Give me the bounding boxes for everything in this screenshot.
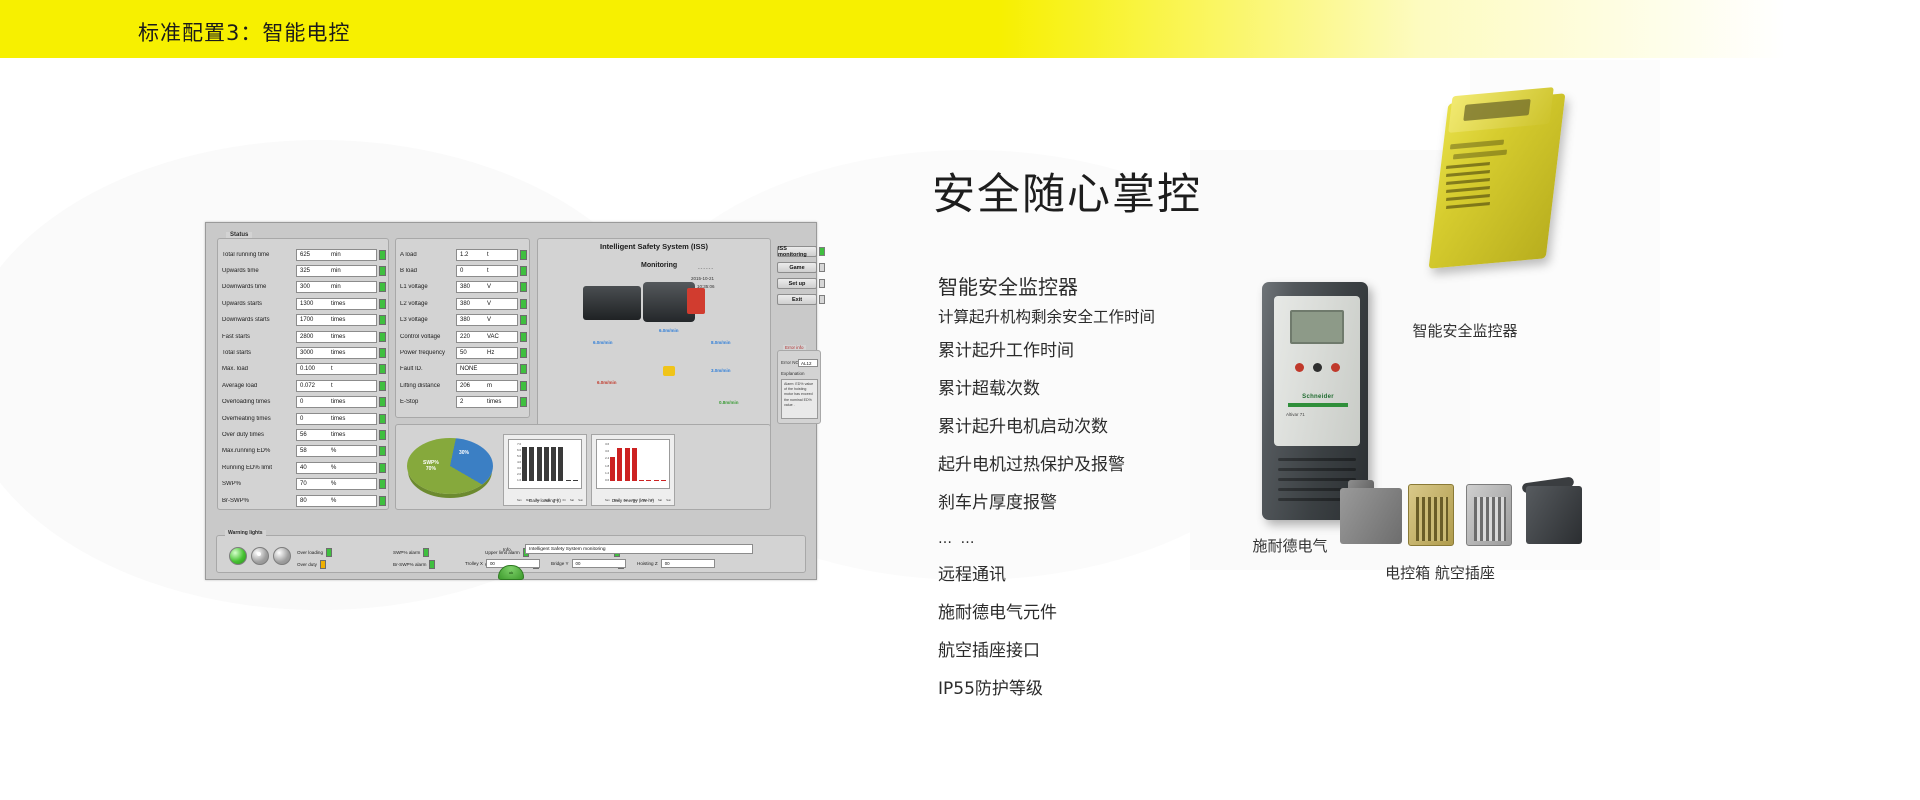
connectors-image [1340, 480, 1600, 560]
status-unit: t [331, 366, 333, 372]
electrical-led [520, 397, 527, 407]
electrical-value: 50 [460, 350, 467, 356]
chart-ytick: 7.0 [511, 442, 521, 446]
speed-label-3: 8.0m/min [711, 340, 731, 345]
status-led [379, 315, 386, 325]
electrical-field[interactable]: 2times [456, 396, 518, 408]
status-value: 0.072 [300, 383, 315, 389]
status-field[interactable]: 0.072t [296, 380, 377, 392]
status-field[interactable]: 70% [296, 478, 377, 490]
status-led [379, 496, 386, 506]
chart-bar [625, 448, 630, 481]
info-field[interactable]: Intelligent Safety System monitoring [525, 544, 753, 554]
electrical-group: A load1.2tB load0tL1 voltage380VL2 volta… [395, 238, 530, 418]
status-led [379, 250, 386, 260]
status-label: Fast starts [222, 334, 296, 340]
status-led [379, 463, 386, 473]
electrical-unit: V [487, 284, 491, 290]
daily-loading-yaxis: 7.06.05.04.03.02.01.0 [511, 442, 521, 482]
warning-item-label: Over duty [297, 562, 317, 567]
electrical-value: 220 [460, 334, 470, 340]
warning-item: SWP% alarm [393, 548, 429, 557]
chart-bar [551, 447, 556, 481]
chart-bar [529, 447, 534, 481]
daily-loading-chart: 7.06.05.04.03.02.01.0 SunMonTueWedThuFri… [503, 434, 587, 506]
status-label: Over duty times [222, 432, 296, 438]
status-row: Max.running ED%58% [222, 444, 386, 459]
electrical-label: Lifting distance [400, 383, 456, 389]
warning-lamp-3 [273, 547, 291, 565]
vfd-vent-1 [1278, 458, 1356, 461]
status-field[interactable]: 58% [296, 445, 377, 457]
electrical-field[interactable]: 0t [456, 265, 518, 277]
status-led [379, 348, 386, 358]
daily-loading-plot: 7.06.05.04.03.02.01.0 [508, 439, 582, 489]
status-led [379, 364, 386, 374]
hoist-hook-graphic [663, 366, 675, 376]
electrical-label: L2 voltage [400, 301, 456, 307]
status-row: Running ED% limit40% [222, 460, 386, 475]
status-field[interactable]: 56times [296, 429, 377, 441]
electrical-field[interactable]: 206m [456, 380, 518, 392]
pie-disk [407, 438, 493, 494]
electrical-led [520, 250, 527, 260]
chart-bar [632, 448, 637, 481]
chart-ytick: 1.0 [511, 478, 521, 482]
electrical-led [520, 348, 527, 358]
electrical-field[interactable]: 380V [456, 298, 518, 310]
banner-title: 标准配置3：智能电控 [138, 17, 350, 47]
electrical-value: 1.2 [460, 252, 468, 258]
electrical-label: Control voltage [400, 334, 456, 340]
electrical-led [520, 266, 527, 276]
electrical-unit: t [487, 268, 489, 274]
electrical-row: E-Stop2times [400, 395, 527, 410]
speed-label-6: 0.8m/min [719, 400, 739, 405]
monitoring-label: Monitoring [641, 262, 677, 269]
hmi-button-column: ISS monitoringGameSet upExit [777, 246, 821, 310]
swp-pie-chart: 30% SWP% 70% [407, 434, 493, 496]
status-row: Max. load0.100t [222, 362, 386, 377]
status-unit: min [331, 268, 341, 274]
status-field[interactable]: 0times [296, 413, 377, 425]
status-label: Max.running ED% [222, 448, 296, 454]
status-field[interactable]: 0.100t [296, 363, 377, 375]
electrical-led [520, 299, 527, 309]
status-label: Overheating times [222, 416, 296, 422]
status-value: 1700 [300, 317, 313, 323]
electrical-value: 2 [460, 399, 463, 405]
status-row: Upwards starts1300times [222, 296, 386, 311]
error-explanation-label: Explanation [781, 371, 805, 376]
electrical-value: 380 [460, 317, 470, 323]
status-unit: times [331, 416, 345, 422]
connector-4-hood [1526, 486, 1582, 544]
hmi-button-label: Exit [792, 297, 802, 303]
hmi-button-indicator [819, 295, 825, 304]
status-row: Overloading times0times [222, 395, 386, 410]
connector-2-pins [1416, 497, 1448, 541]
status-field[interactable]: 0times [296, 396, 377, 408]
status-label: Downwards time [222, 284, 296, 290]
coord-trolley-x-label: Trolley X [465, 561, 483, 566]
daily-energy-yaxis: 3.63.02.41.81.20.6 [599, 442, 609, 482]
status-unit: % [331, 498, 336, 504]
status-unit: min [331, 252, 341, 258]
hmi-button-label: ISS monitoring [778, 246, 816, 258]
feature-item: 施耐德电气元件 [938, 594, 1358, 632]
vfd-brand-bar [1288, 403, 1348, 407]
chart-ytick: 6.0 [511, 448, 521, 452]
electrical-row: L3 voltage380V [400, 313, 527, 328]
status-unit: % [331, 448, 336, 454]
status-row: Total running time625min [222, 247, 386, 262]
status-led [379, 430, 386, 440]
connector-2-hood [1408, 484, 1454, 546]
vfd-model-text: Altivar 71 [1286, 412, 1352, 418]
warning-lamp-1 [229, 547, 247, 565]
feature-item: IP55防护等级 [938, 670, 1358, 708]
status-value: 2800 [300, 334, 313, 340]
status-value: 58 [300, 448, 307, 454]
status-led [379, 414, 386, 424]
electrical-label: E-Stop [400, 399, 456, 405]
hmi-button-indicator [819, 279, 825, 288]
status-field[interactable]: 625min [296, 249, 377, 261]
warning-lights-panel: Warning lights Over loadingOver dutySWP%… [216, 535, 806, 573]
chart-bar [573, 480, 578, 481]
coord-hoisting-z-field[interactable]: 00 [661, 559, 715, 568]
status-unit: times [331, 432, 345, 438]
status-value: 0 [300, 399, 303, 405]
warning-item: Br-SWP% alarm [393, 560, 435, 569]
speed-label-1: 6.0m/min [593, 340, 613, 345]
status-field[interactable]: 1700times [296, 314, 377, 326]
electrical-label: L1 voltage [400, 284, 456, 290]
feature-item: 航空插座接口 [938, 632, 1358, 670]
status-value: 80 [300, 498, 307, 504]
status-value: 1300 [300, 301, 313, 307]
chart-ytick: 1.8 [599, 464, 609, 468]
status-label: Average load [222, 383, 296, 389]
chart-ytick: 3.6 [599, 442, 609, 446]
vfd-brand-text: Schneider [1286, 394, 1350, 400]
hmi-button-indicator [819, 247, 825, 256]
status-row: Average load0.072t [222, 378, 386, 393]
electrical-label: A load [400, 252, 456, 258]
speed-label-2: 6.0m/min [659, 328, 679, 333]
warning-item-indicator [320, 560, 326, 569]
chart-bar [654, 480, 659, 481]
status-field[interactable]: 40% [296, 462, 377, 474]
coord-hoisting-z-label: Hoisting Z [637, 561, 658, 566]
status-led [379, 479, 386, 489]
electrical-unit: times [487, 399, 501, 405]
product-caption-box: 电控箱 航空插座 [1290, 562, 1590, 583]
hoist-motor-graphic [583, 286, 641, 320]
daily-loading-caption: Daily loading (t) [504, 498, 586, 503]
error-info-legend: Error info [783, 345, 806, 350]
electrical-value: 206 [460, 383, 470, 389]
status-led [379, 299, 386, 309]
status-field[interactable]: 80% [296, 495, 377, 507]
electrical-led [520, 332, 527, 342]
error-info-box: Error info Error NO. AL12 Explanation Al… [777, 350, 821, 424]
ok-knob-button[interactable]: ok [498, 565, 524, 580]
page-root: 标准配置3：智能电控 Status Total running time625m… [0, 0, 1920, 800]
warning-item-label: Br-SWP% alarm [393, 562, 426, 567]
warning-item-label: SWP% alarm [393, 550, 420, 555]
chart-bar [544, 447, 549, 481]
status-label: Running ED% limit [222, 465, 296, 471]
warning-item: Over loading [297, 548, 332, 557]
electrical-row: A load1.2t [400, 247, 527, 262]
electrical-row: B load0t [400, 263, 527, 278]
electrical-label: Fault ID. [400, 366, 456, 372]
status-unit: times [331, 350, 345, 356]
status-label: Max. load [222, 366, 296, 372]
hmi-button-set-up[interactable]: Set up [777, 278, 817, 289]
electrical-field[interactable]: 380V [456, 314, 518, 326]
electrical-label: Power frequency [400, 350, 456, 356]
electrical-led [520, 381, 527, 391]
electrical-field[interactable]: 1.2t [456, 249, 518, 261]
coord-bridge-y-field[interactable]: 00 [572, 559, 626, 568]
electrical-value: 0 [460, 268, 463, 274]
electrical-unit: V [487, 301, 491, 307]
vfd-lcd-icon [1290, 310, 1344, 344]
status-group-legend: Status [226, 232, 252, 238]
status-field[interactable]: 300min [296, 281, 377, 293]
warning-item-indicator [326, 548, 332, 557]
chart-ytick: 2.4 [599, 456, 609, 460]
hmi-button-indicator [819, 263, 825, 272]
status-led [379, 397, 386, 407]
status-label: Br-SWP% [222, 498, 296, 504]
status-value: 625 [300, 252, 310, 258]
chart-bar [522, 447, 527, 481]
electrical-label: L3 voltage [400, 317, 456, 323]
electrical-row: L1 voltage380V [400, 280, 527, 295]
status-row: Overheating times0times [222, 411, 386, 426]
electrical-field[interactable]: 50Hz [456, 347, 518, 359]
pie-center-value: 70% [423, 466, 439, 472]
chart-ytick: 5.0 [511, 454, 521, 458]
chart-bar [558, 447, 563, 481]
electrical-field[interactable]: 220VAC [456, 331, 518, 343]
chart-bar [646, 480, 651, 481]
electrical-row: Power frequency50Hz [400, 345, 527, 360]
status-row: Br-SWP%80% [222, 493, 386, 508]
electrical-led [520, 364, 527, 374]
chart-ytick: 2.0 [511, 472, 521, 476]
status-row: Over duty times56times [222, 427, 386, 442]
status-value: 0 [300, 416, 303, 422]
chart-ytick: 3.0 [511, 466, 521, 470]
electrical-unit: VAC [487, 334, 499, 340]
electrical-led [520, 282, 527, 292]
status-field[interactable]: 2800times [296, 331, 377, 343]
electrical-led [520, 315, 527, 325]
status-label: Overloading times [222, 399, 296, 405]
speed-label-5: 6.0m/min [597, 380, 617, 385]
status-row: Total starts3000times [222, 345, 386, 360]
warning-item-label: Over loading [297, 550, 323, 555]
error-no-field[interactable]: AL12 [798, 359, 818, 367]
page-title: 安全随心掌控 [932, 160, 1202, 222]
warning-item: Over duty [297, 560, 326, 569]
status-label: Upwards starts [222, 301, 296, 307]
error-explanation-text: Alarm: ED% value of the hoisting motor h… [781, 379, 818, 419]
electrical-unit: Hz [487, 350, 494, 356]
warning-item-indicator [429, 560, 435, 569]
hmi-button-exit[interactable]: Exit [777, 294, 817, 305]
status-unit: times [331, 334, 345, 340]
chart-bar [617, 448, 622, 481]
status-label: SWP% [222, 481, 296, 487]
monitoring-dots: ------ [698, 266, 714, 272]
electrical-row: L2 voltage380V [400, 296, 527, 311]
status-unit: min [331, 284, 341, 290]
electrical-unit: V [487, 317, 491, 323]
status-unit: t [331, 383, 333, 389]
electrical-field[interactable]: 380V [456, 281, 518, 293]
info-label: Info. [503, 547, 512, 552]
status-value: 300 [300, 284, 310, 290]
chart-bar [537, 447, 542, 481]
hmi-panel: Status Total running time625minUpwards t… [205, 222, 817, 580]
electrical-row: Control voltage220VAC [400, 329, 527, 344]
status-field[interactable]: 325min [296, 265, 377, 277]
chart-bar [610, 457, 615, 481]
status-value: 70 [300, 481, 307, 487]
safety-relay-image [1420, 90, 1588, 280]
status-value: 325 [300, 268, 310, 274]
electrical-row: Fault ID.NONE [400, 362, 527, 377]
warning-lamp-2 [251, 547, 269, 565]
hmi-button-game[interactable]: Game [777, 262, 817, 273]
pie-slice-label-green: SWP% 70% [423, 460, 439, 473]
warning-item-indicator [423, 548, 429, 557]
status-unit: times [331, 317, 345, 323]
vfd-vent-2 [1278, 468, 1356, 471]
status-value: 40 [300, 465, 307, 471]
chart-bar [639, 480, 644, 481]
status-row: Downwards time300min [222, 280, 386, 295]
daily-energy-caption: Daily energy (kW-hr) [592, 498, 674, 503]
daily-energy-bars [610, 443, 666, 481]
chart-ytick: 0.6 [599, 478, 609, 482]
daily-energy-chart: 3.63.02.41.81.20.6 SunMonTueWedThuFriSat… [591, 434, 675, 506]
status-led [379, 332, 386, 342]
status-field[interactable]: 3000times [296, 347, 377, 359]
hmi-button-label: Game [789, 265, 804, 271]
coord-bridge-y: Bridge Y 00 [551, 559, 626, 568]
hoist-panel-graphic [687, 288, 705, 314]
status-unit: % [331, 465, 336, 471]
status-row: Downwards starts1700times [222, 313, 386, 328]
status-led [379, 446, 386, 456]
status-row: SWP%70% [222, 477, 386, 492]
status-group: Status Total running time625minUpwards t… [217, 238, 389, 510]
coord-bridge-y-label: Bridge Y [551, 561, 569, 566]
chart-ytick: 4.0 [511, 460, 521, 464]
daily-loading-bars [522, 443, 578, 481]
status-label: Downwards starts [222, 317, 296, 323]
hmi-button-label: Set up [789, 281, 806, 287]
status-unit: times [331, 399, 345, 405]
electrical-label: B load [400, 268, 456, 274]
status-label: Upwards time [222, 268, 296, 274]
electrical-unit: m [487, 383, 492, 389]
status-unit: % [331, 481, 336, 487]
electrical-value: 380 [460, 301, 470, 307]
chart-bar [661, 480, 666, 481]
hmi-date: 2015-10-21 [691, 276, 714, 281]
status-label: Total starts [222, 350, 296, 356]
electrical-row: Lifting distance206m [400, 378, 527, 393]
chart-bar [566, 480, 571, 481]
electrical-value: 380 [460, 284, 470, 290]
electrical-unit: t [487, 252, 489, 258]
status-led [379, 381, 386, 391]
connector-1-hood [1340, 488, 1402, 544]
hmi-inner: Status Total running time625minUpwards t… [211, 228, 811, 533]
status-field[interactable]: 1300times [296, 298, 377, 310]
status-row: Upwards time325min [222, 263, 386, 278]
daily-energy-plot: 3.63.02.41.81.20.6 [596, 439, 670, 489]
chart-ytick: 1.2 [599, 471, 609, 475]
coord-hoisting-z: Hoisting Z 00 [637, 559, 715, 568]
pie-slice-label-blue: 30% [459, 450, 469, 456]
vfd-knobs [1290, 352, 1344, 382]
status-led [379, 266, 386, 276]
header-banner: 标准配置3：智能电控 [0, 0, 1920, 58]
electrical-field[interactable]: NONE [456, 363, 518, 375]
electrical-value: NONE [460, 366, 477, 372]
status-value: 56 [300, 432, 307, 438]
iss-title: Intelligent Safety System (ISS) [547, 242, 761, 251]
hmi-button-iss-monitoring[interactable]: ISS monitoring [777, 246, 817, 257]
status-value: 0.100 [300, 366, 315, 372]
status-label: Total running time [222, 252, 296, 258]
connector-3-pins [1474, 497, 1506, 541]
connector-3-hood [1466, 484, 1512, 546]
status-unit: times [331, 301, 345, 307]
chart-ytick: 3.0 [599, 449, 609, 453]
status-value: 3000 [300, 350, 313, 356]
speed-label-4: 3.0m/min [711, 368, 731, 373]
warning-lights-legend: Warning lights [225, 530, 266, 536]
status-row: Fast starts2800times [222, 329, 386, 344]
status-led [379, 282, 386, 292]
